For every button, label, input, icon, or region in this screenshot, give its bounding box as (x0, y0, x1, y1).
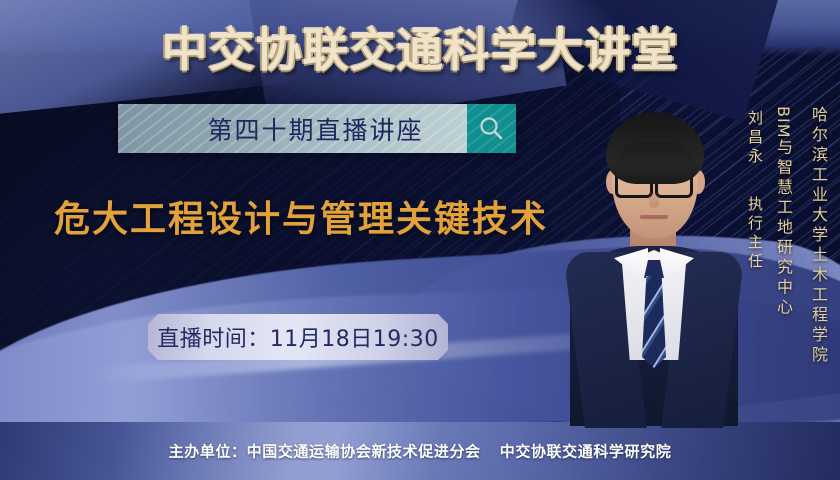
live-time-text: 直播时间：11月18日19:30 (157, 321, 438, 353)
speaker-center-rest: 与智慧工地研究中心 (774, 139, 793, 319)
lecture-title: 危大工程设计与管理关键技术 (54, 190, 548, 242)
portrait-tie (642, 276, 666, 368)
speaker-role: 执行主任 (745, 196, 766, 272)
episode-banner[interactable]: 第四十期直播讲座 (118, 104, 516, 153)
search-icon (478, 115, 505, 142)
live-time-badge: 直播时间：11月18日19:30 (148, 314, 448, 360)
search-button[interactable] (467, 104, 516, 153)
speaker-center-latin: BIM (774, 106, 793, 139)
portrait-mouth (640, 215, 668, 219)
episode-label-text: 第四十期直播讲座 (207, 111, 423, 147)
poster-canvas: 中交协联交通科学大讲堂 第四十期直播讲座 危大工程设计与管理关键技术 直播时间：… (0, 0, 840, 480)
page-title: 中交协联交通科学大讲堂 (0, 14, 840, 80)
portrait-nose (649, 192, 659, 208)
portrait-hair (606, 112, 704, 184)
speaker-name: 刘昌永 (745, 110, 766, 167)
footer-bar: 主办单位：中国交通运输协会新技术促进分会 中交协联交通科学研究院 (0, 422, 840, 480)
speaker-institution: 哈尔滨工业大学土木工程学院 (806, 106, 830, 366)
episode-label-bar: 第四十期直播讲座 (118, 104, 467, 153)
footer-organizers: 主办单位：中国交通运输协会新技术促进分会 中交协联交通科学研究院 (0, 441, 840, 462)
speaker-portrait (568, 74, 740, 424)
speaker-center: BIM与智慧工地研究中心 (771, 106, 798, 319)
